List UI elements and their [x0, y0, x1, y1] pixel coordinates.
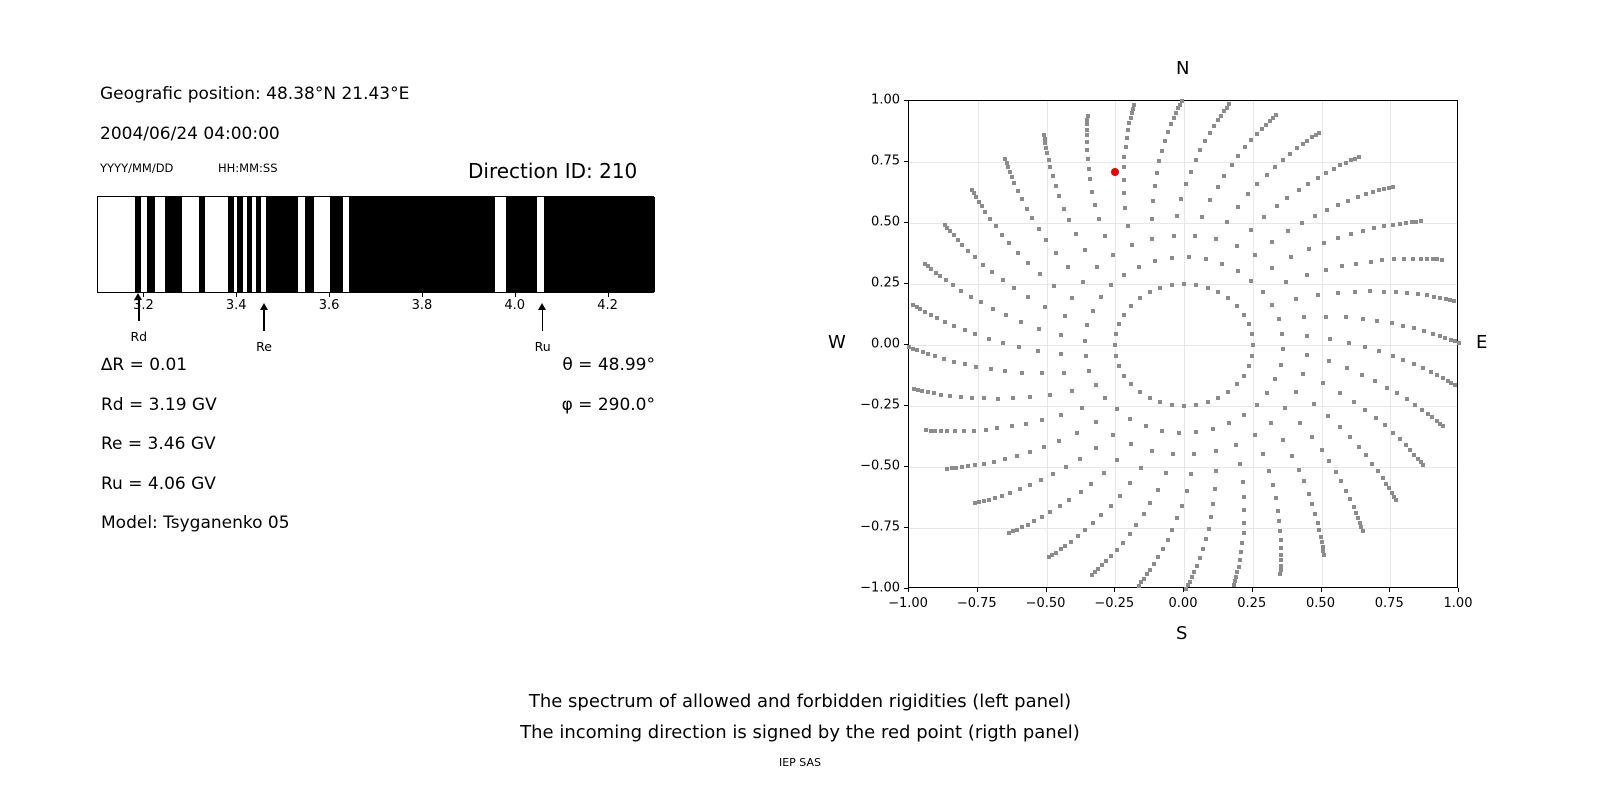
scatter-point: [1357, 445, 1361, 449]
scatter-point: [1216, 396, 1220, 400]
forbidden-band: [135, 197, 141, 292]
scatter-point: [1376, 469, 1380, 473]
scatter-point: [1048, 165, 1052, 169]
scatter-point: [912, 387, 916, 391]
x-tick-label: −0.75: [957, 596, 997, 611]
scatter-point: [939, 429, 943, 433]
scatter-point: [1085, 118, 1089, 122]
scatter-point: [1419, 219, 1423, 223]
scatter-point: [1001, 341, 1005, 345]
scatter-point: [1338, 425, 1342, 429]
scatter-point: [1084, 354, 1088, 358]
scatter-point: [1270, 266, 1274, 270]
caption-line-2: The incoming direction is signed by the …: [0, 717, 1600, 748]
scatter-point: [1208, 131, 1212, 135]
scatter-point: [959, 289, 963, 293]
scatter-point: [966, 249, 970, 253]
scatter-point: [1037, 227, 1041, 231]
scatter-point: [1090, 573, 1094, 577]
scatter-point: [1411, 257, 1415, 261]
scatter-point: [1038, 272, 1042, 276]
scatter-point: [1087, 167, 1091, 171]
scatter-point: [1425, 293, 1429, 297]
scatter-point: [1020, 197, 1024, 201]
scatter-point: [1125, 136, 1129, 140]
scatter-point: [1117, 364, 1121, 368]
parameter-item: Rd = 3.19 GV: [101, 395, 217, 415]
scatter-point: [973, 501, 977, 505]
scatter-point: [1235, 570, 1239, 574]
scatter-point: [1284, 280, 1288, 284]
scatter-point: [1015, 528, 1019, 532]
marker-arrow-rd: [138, 299, 140, 321]
scatter-point: [1091, 309, 1095, 313]
scatter-point: [973, 255, 977, 259]
scatter-point: [1187, 255, 1191, 259]
scatter-point: [1091, 521, 1095, 525]
scatter-point: [980, 204, 984, 208]
y-tick-label: 0.50: [846, 215, 900, 230]
scatter-point: [1089, 482, 1093, 486]
scatter-point: [939, 393, 943, 397]
scatter-point: [1220, 262, 1224, 266]
scatter-point: [1261, 290, 1265, 294]
scatter-point: [1043, 141, 1047, 145]
scatter-point: [1059, 352, 1063, 356]
scatter-point: [1441, 424, 1445, 428]
y-tick-label: 1.00: [846, 93, 900, 108]
scatter-point: [1203, 139, 1207, 143]
scatter-point: [1100, 563, 1104, 567]
scatter-point: [1281, 347, 1285, 351]
scatter-point: [1363, 408, 1367, 412]
scatter-point: [970, 396, 974, 400]
scatter-point: [1305, 334, 1309, 338]
scatter-point: [1180, 99, 1184, 103]
scatter-point: [1094, 383, 1098, 387]
scatter-point: [1250, 354, 1254, 358]
scatter-point: [1122, 155, 1126, 159]
scatter-point: [1008, 491, 1012, 495]
compass-label-east: E: [1476, 332, 1487, 353]
scatter-point: [984, 428, 988, 432]
gridline-horizontal: [909, 528, 1457, 529]
scatter-point: [1132, 103, 1136, 107]
scatter-point: [1131, 107, 1135, 111]
scatter-point: [1391, 223, 1395, 227]
datetime-label: 2004/06/24 04:00:00: [100, 124, 280, 144]
scatter-point: [1179, 197, 1183, 201]
scatter-point: [1394, 290, 1398, 294]
scatter-point: [1305, 273, 1309, 277]
scatter-point: [1117, 322, 1121, 326]
scatter-point: [1157, 159, 1161, 163]
forbidden-band: [506, 197, 536, 292]
scatter-point: [1085, 133, 1089, 137]
scatter-point: [1115, 407, 1119, 411]
scatter-point: [1414, 220, 1418, 224]
scatter-point: [1435, 257, 1439, 261]
scatter-point: [1301, 142, 1305, 146]
scatter-point: [974, 365, 978, 369]
scatter-point: [1232, 583, 1236, 587]
scatter-point: [1353, 290, 1357, 294]
scatter-point: [1246, 192, 1250, 196]
scatter-point: [1236, 269, 1240, 273]
x-tick: [1114, 588, 1115, 592]
scatter-point: [1237, 565, 1241, 569]
scatter-point: [1432, 295, 1436, 299]
scatter-point: [1010, 424, 1014, 428]
scatter-point: [1182, 404, 1186, 408]
scatter-point: [1083, 339, 1087, 343]
scatter-point: [1289, 255, 1293, 259]
scatter-point: [1216, 185, 1220, 189]
x-tick-label: −0.25: [1094, 596, 1134, 611]
scatter-point: [1129, 304, 1133, 308]
scatter-point: [1390, 321, 1394, 325]
scatter-point: [1313, 214, 1317, 218]
y-tick-label: 0.75: [846, 154, 900, 169]
scatter-point: [1011, 396, 1015, 400]
scatter-point: [1150, 449, 1154, 453]
scatter-point: [1043, 137, 1047, 141]
scatter-point: [1059, 547, 1063, 551]
scatter-point: [1457, 341, 1461, 345]
scatter-point: [1242, 413, 1246, 417]
scatter-point: [1208, 198, 1212, 202]
scatter-point: [1222, 174, 1226, 178]
polar-scatter-plot: [908, 100, 1458, 588]
forbidden-band: [349, 197, 495, 292]
scatter-point: [1024, 422, 1028, 426]
forbidden-band: [330, 197, 343, 292]
scatter-point: [1279, 538, 1283, 542]
scatter-point: [963, 362, 967, 366]
scatter-point: [1122, 374, 1126, 378]
scatter-point: [1003, 157, 1007, 161]
scatter-point: [1226, 390, 1230, 394]
scatter-point: [1040, 515, 1044, 519]
scatter-point: [1090, 190, 1094, 194]
scatter-point: [1413, 403, 1417, 407]
scatter-point: [1421, 366, 1425, 370]
scatter-point: [1344, 315, 1348, 319]
scatter-point: [1130, 243, 1134, 247]
x-tick: [1321, 588, 1322, 592]
scatter-point: [972, 429, 976, 433]
scatter-point: [1435, 373, 1439, 377]
scatter-point: [1172, 116, 1176, 120]
scatter-point: [1273, 165, 1277, 169]
y-tick-label: −0.50: [846, 459, 900, 474]
scatter-point: [1313, 512, 1317, 516]
scatter-point: [1040, 418, 1044, 422]
scatter-point: [1047, 158, 1051, 162]
scatter-point: [1391, 431, 1395, 435]
scatter-point: [1037, 327, 1041, 331]
scatter-point: [951, 283, 955, 287]
scatter-point: [916, 388, 920, 392]
scatter-point: [987, 498, 991, 502]
scatter-point: [1250, 332, 1254, 336]
scatter-point: [1085, 122, 1089, 126]
scatter-point: [1138, 296, 1142, 300]
scatter-point: [1356, 195, 1360, 199]
scatter-point: [1129, 382, 1133, 386]
scatter-point: [1324, 171, 1328, 175]
scatter-point: [933, 429, 937, 433]
scatter-point: [992, 460, 996, 464]
scatter-point: [1419, 257, 1423, 261]
scatter-point: [1431, 257, 1435, 261]
scatter-point: [1122, 273, 1126, 277]
scatter-point: [1234, 443, 1238, 447]
scatter-point: [1338, 391, 1342, 395]
scatter-point: [956, 238, 960, 242]
scatter-point: [1142, 512, 1146, 516]
scatter-point: [1352, 400, 1356, 404]
scatter-point: [1357, 155, 1361, 159]
scatter-point: [1083, 528, 1087, 532]
scatter-point: [1083, 248, 1087, 252]
scatter-point: [1354, 262, 1358, 266]
scatter-point: [1155, 171, 1159, 175]
scatter-point: [1444, 297, 1448, 301]
scatter-point: [1421, 463, 1425, 467]
scatter-point: [1122, 313, 1126, 317]
scatter-point: [1348, 497, 1352, 501]
scatter-point: [921, 350, 925, 354]
marker-arrow-re: [263, 309, 265, 331]
scatter-point: [948, 394, 952, 398]
scatter-point: [935, 316, 939, 320]
scatter-point: [952, 360, 956, 364]
scatter-point: [1075, 431, 1079, 435]
scatter-point: [1194, 158, 1198, 162]
scatter-point: [1377, 349, 1381, 353]
scatter-point: [1317, 528, 1321, 532]
scatter-point: [1158, 400, 1162, 404]
marker-label-ru: Ru: [535, 339, 551, 354]
scatter-point: [1139, 466, 1143, 470]
scatter-point: [1260, 127, 1264, 131]
scatter-point: [1297, 468, 1301, 472]
scatter-point: [1161, 547, 1165, 551]
scatter-point: [1184, 182, 1188, 186]
scatter-point: [1079, 490, 1083, 494]
marker-arrowhead-ru: [538, 303, 546, 310]
scatter-point: [1094, 420, 1098, 424]
scatter-point: [1317, 131, 1321, 135]
scatter-point: [1204, 537, 1208, 541]
scatter-point: [1298, 421, 1302, 425]
scatter-point: [1361, 229, 1365, 233]
scatter-point: [1448, 298, 1452, 302]
scatter-point: [1051, 174, 1055, 178]
scatter-point: [1050, 553, 1054, 557]
scatter-point: [915, 305, 919, 309]
scatter-point: [1364, 192, 1368, 196]
scatter-point: [1178, 103, 1182, 107]
scatter-point: [1078, 457, 1082, 461]
scatter-point: [1189, 170, 1193, 174]
scatter-point: [1102, 471, 1106, 475]
scatter-point: [943, 320, 947, 324]
scatter-point: [1310, 502, 1314, 506]
scatter-point: [1166, 130, 1170, 134]
scatter-point: [1242, 521, 1246, 525]
scatter-point: [1170, 528, 1174, 532]
scatter-point: [1216, 118, 1220, 122]
scatter-point: [1316, 293, 1320, 297]
scatter-point: [994, 224, 998, 228]
scatter-point: [1114, 332, 1118, 336]
scatter-point: [1288, 152, 1292, 156]
scatter-point: [1145, 572, 1149, 576]
scatter-point: [1019, 320, 1023, 324]
y-tick-label: −0.25: [846, 398, 900, 413]
scatter-point: [1114, 354, 1118, 358]
marker-arrow-ru: [542, 309, 544, 331]
scatter-point: [1327, 359, 1331, 363]
scatter-point: [1148, 396, 1152, 400]
scatter-point: [1007, 531, 1011, 535]
scatter-point: [1211, 502, 1215, 506]
scatter-point: [1052, 284, 1056, 288]
scatter-point: [991, 307, 995, 311]
marker-arrowhead-rd: [134, 293, 142, 300]
y-tick: [904, 405, 908, 406]
scatter-point: [1271, 483, 1275, 487]
scatter-point: [1340, 264, 1344, 268]
scatter-point: [938, 274, 942, 278]
footer-credit: IEP SAS: [0, 756, 1600, 769]
x-tick-label: −0.50: [1026, 596, 1066, 611]
scatter-point: [1380, 258, 1384, 262]
scatter-point: [1137, 584, 1141, 588]
scatter-point: [1295, 146, 1299, 150]
y-tick: [904, 222, 908, 223]
scatter-point: [1137, 265, 1141, 269]
scatter-point: [1249, 138, 1253, 142]
scatter-point: [1235, 244, 1239, 248]
scatter-point: [1190, 575, 1194, 579]
scatter-point: [960, 243, 964, 247]
scatter-point: [1364, 453, 1368, 457]
scatter-point: [990, 270, 994, 274]
scatter-point: [1048, 393, 1052, 397]
scatter-point: [944, 278, 948, 282]
scatter-point: [1064, 465, 1068, 469]
scatter-point: [911, 303, 915, 307]
scatter-point: [1227, 421, 1231, 425]
scatter-point: [1058, 504, 1062, 508]
forbidden-band: [305, 197, 314, 292]
scatter-point: [1172, 234, 1176, 238]
scatter-point: [1336, 291, 1340, 295]
scatter-point: [1153, 184, 1157, 188]
scatter-point: [1111, 433, 1115, 437]
scatter-point: [1412, 326, 1416, 330]
scatter-point: [1048, 510, 1052, 514]
scatter-point: [932, 391, 936, 395]
scatter-point: [1129, 442, 1133, 446]
scatter-point: [1200, 215, 1204, 219]
scatter-point: [1405, 291, 1409, 295]
scatter-point: [1438, 334, 1442, 338]
scatter-point: [1126, 128, 1130, 132]
scatter-point: [1042, 445, 1046, 449]
x-tick-label: 0.75: [1375, 596, 1404, 611]
scatter-point: [1192, 570, 1196, 574]
forbidden-band: [165, 197, 181, 292]
scatter-point: [1363, 345, 1367, 349]
scatter-point: [1281, 158, 1285, 162]
scatter-point: [1384, 482, 1388, 486]
scatter-point: [1255, 403, 1259, 407]
scatter-point: [1294, 390, 1298, 394]
scatter-point: [1148, 501, 1152, 505]
scatter-point: [1334, 470, 1338, 474]
scatter-point: [1209, 515, 1213, 519]
scatter-point: [1000, 494, 1004, 498]
scatter-point: [963, 328, 967, 332]
scatter-point: [1370, 462, 1374, 466]
scatter-point: [987, 337, 991, 341]
x-tick: [1458, 588, 1459, 592]
x-tick: [1252, 588, 1253, 592]
scatter-point: [1382, 224, 1386, 228]
scatter-point: [1085, 323, 1089, 327]
scatter-point: [1348, 435, 1352, 439]
scatter-point: [1152, 562, 1156, 566]
scatter-point: [934, 271, 938, 275]
scatter-point: [1195, 564, 1199, 568]
scatter-point: [1028, 395, 1032, 399]
y-tick-label: 0.25: [846, 276, 900, 291]
scatter-point: [993, 496, 997, 500]
scatter-point: [1385, 386, 1389, 390]
scatter-point: [1236, 154, 1240, 158]
scatter-point: [1377, 188, 1381, 192]
scatter-point: [1184, 587, 1188, 591]
scatter-point: [1247, 364, 1251, 368]
scatter-point: [1044, 238, 1048, 242]
scatter-point: [1020, 525, 1024, 529]
scatter-point: [1148, 290, 1152, 294]
scatter-point: [977, 500, 981, 504]
scatter-point: [1086, 157, 1090, 161]
scatter-point: [1124, 145, 1128, 149]
scatter-point: [1270, 303, 1274, 307]
time-format-hint: HH:MM:SS: [218, 161, 278, 175]
scatter-point: [1093, 203, 1097, 207]
scatter-point: [1264, 123, 1268, 127]
scatter-point: [1057, 194, 1061, 198]
scatter-point: [911, 347, 915, 351]
scatter-point: [1207, 527, 1211, 531]
scatter-point: [1015, 454, 1019, 458]
scatter-point: [1301, 372, 1305, 376]
scatter-point: [1171, 452, 1175, 456]
scatter-point: [915, 348, 919, 352]
scatter-point: [1274, 113, 1278, 117]
scatter-point: [1059, 333, 1063, 337]
scatter-point: [1270, 240, 1274, 244]
scatter-point: [952, 233, 956, 237]
scatter-point: [1129, 116, 1133, 120]
